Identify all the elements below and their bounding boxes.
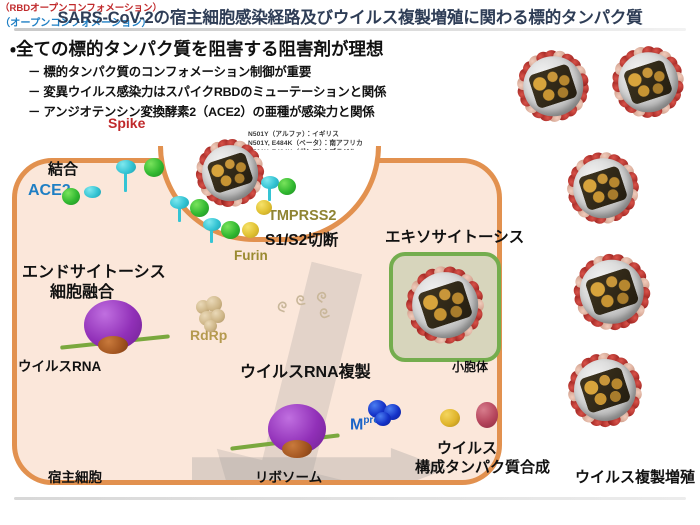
ace2-receptor-icon bbox=[203, 218, 221, 231]
tmprss2-protein-icon bbox=[62, 188, 80, 205]
bullet-sub-2: － 変異ウイルス感染力はスパイクRBDのミューテーションと関係 bbox=[28, 82, 386, 100]
tmprss2-protein-icon bbox=[221, 221, 240, 239]
virus-particle bbox=[555, 140, 651, 236]
s1s2-cleavage-label: S1/S2切断 bbox=[265, 228, 338, 250]
ace2-receptor-icon bbox=[261, 176, 279, 189]
structural-protein-icon bbox=[440, 409, 460, 427]
tmprss2-label: TMPRSS2 bbox=[268, 208, 337, 224]
ribosome-icon bbox=[282, 440, 312, 458]
host-cell-label: 宿主細胞 bbox=[48, 466, 102, 486]
virus-particle bbox=[560, 240, 664, 344]
viral-protein-label-1: ウイルス bbox=[437, 437, 497, 458]
slide-canvas: SARS-CoV-2の宿主細胞感染経路及びウイルス複製増殖に関わる標的タンパク質… bbox=[0, 0, 700, 525]
exocytosis-label: エキソサイトーシス bbox=[385, 225, 524, 247]
virus-particle bbox=[505, 38, 601, 134]
furin-label: Furin bbox=[234, 248, 268, 263]
ace2-stalk bbox=[124, 172, 127, 192]
ace2-receptor-icon bbox=[84, 186, 101, 198]
vesicle-label: 小胞体 bbox=[452, 358, 488, 375]
tmprss2-protein-icon bbox=[278, 178, 296, 195]
ribosome-label: リボソーム bbox=[255, 466, 322, 486]
bullet-sub-3: － アンジオテンシン変換酵素2（ACE2）の亜種が感染力と関係 bbox=[28, 102, 374, 120]
virus-particle-in-vesicle bbox=[392, 252, 498, 358]
page-title: SARS-CoV-2の宿主細胞感染経路及びウイルス複製増殖に関わる標的タンパク質 bbox=[0, 4, 700, 28]
title-divider bbox=[14, 28, 686, 31]
ribosome-icon bbox=[98, 336, 128, 354]
tmprss2-protein-icon bbox=[144, 158, 164, 177]
furin-protein-icon bbox=[242, 222, 259, 238]
structural-protein-icon bbox=[476, 402, 498, 428]
mpro-m: M bbox=[350, 416, 363, 433]
rdrp-subunit bbox=[204, 320, 217, 332]
furin-protein-icon bbox=[256, 200, 272, 215]
bullet-main: ・全ての標的タンパク質を阻害する阻害剤が理想 bbox=[10, 36, 383, 61]
rna-replication-label: ウイルスRNA複製 bbox=[240, 358, 371, 382]
ace2-receptor-icon bbox=[170, 196, 189, 209]
binding-label: 結合 bbox=[48, 158, 78, 179]
bottom-divider bbox=[14, 497, 686, 500]
mpro-protein-icon bbox=[375, 412, 391, 426]
ace2-receptor-icon bbox=[116, 160, 136, 174]
virus-replication-label: ウイルス複製増殖 bbox=[575, 466, 695, 487]
membrane-fusion-label: 細胞融合 bbox=[50, 278, 114, 302]
spike-label: Spike bbox=[108, 115, 145, 131]
viral-rna-label: ウイルスRNA bbox=[18, 355, 101, 375]
virus-particle bbox=[600, 34, 696, 130]
viral-protein-label-2: 構成タンパク質合成 bbox=[415, 456, 550, 477]
virus-particle bbox=[555, 340, 655, 440]
tmprss2-protein-icon bbox=[190, 199, 209, 217]
bullet-sub-1: － 標的タンパク質のコンフォメーション制御が重要 bbox=[28, 62, 311, 80]
